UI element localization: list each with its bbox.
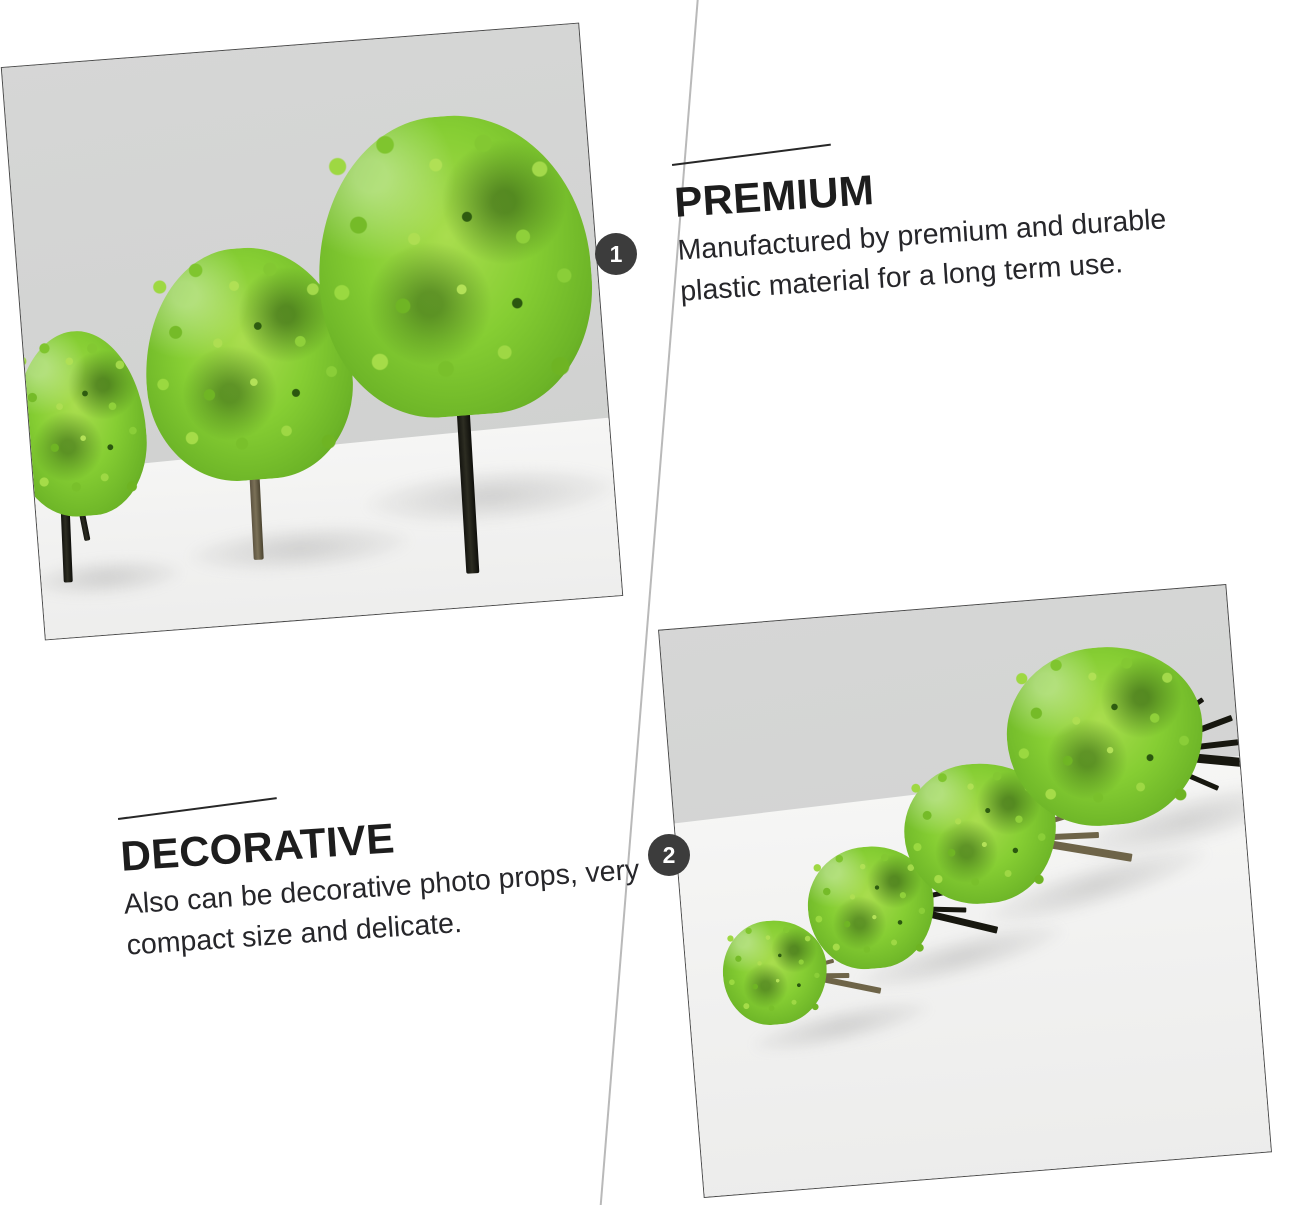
foliage-texture bbox=[6, 326, 152, 521]
foliage-texture bbox=[1000, 640, 1210, 833]
model-tree-reclining-4 bbox=[1000, 631, 1271, 874]
tree-canopy bbox=[307, 106, 601, 426]
photo-2-scene bbox=[659, 585, 1271, 1197]
tree-canopy bbox=[6, 326, 152, 521]
infographic-page: PREMIUM Manufactured by premium and dura… bbox=[0, 0, 1290, 1205]
accent-rule bbox=[118, 797, 277, 820]
product-photo-standing-trees bbox=[1, 23, 623, 641]
step-badge-2: 2 bbox=[648, 834, 690, 876]
feature-block-premium: PREMIUM Manufactured by premium and dura… bbox=[672, 129, 1221, 313]
product-photo-reclining-trees bbox=[658, 584, 1272, 1198]
model-tree-small bbox=[6, 326, 165, 586]
photo-1-scene bbox=[2, 24, 622, 640]
foliage-texture bbox=[307, 106, 601, 426]
feature-block-decorative: DECORATIVE Also can be decorative photo … bbox=[118, 783, 647, 967]
model-tree-large bbox=[307, 105, 622, 546]
accent-rule bbox=[672, 144, 831, 166]
tree-canopy bbox=[1000, 640, 1210, 833]
step-badge-1: 1 bbox=[595, 233, 637, 275]
